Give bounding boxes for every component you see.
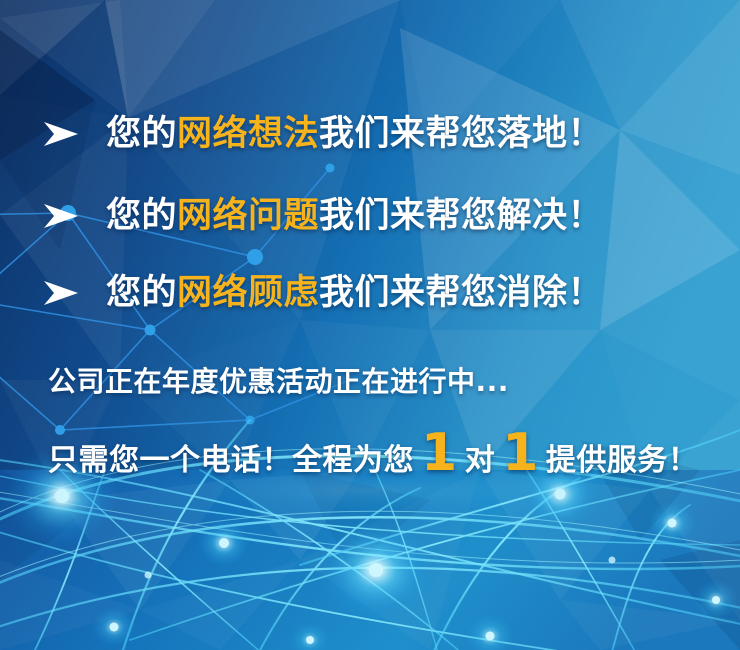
service-number-first: 1	[414, 428, 465, 478]
bullet-headline: 您的网络顾虑我们来帮您消除！	[106, 267, 603, 319]
bullet-headline: 您的网络想法我们来帮您落地！	[106, 108, 603, 160]
headline-prefix: 您的	[106, 196, 177, 236]
arrow-right-icon	[44, 203, 78, 229]
headline-suffix: 我们来帮您解决！	[319, 196, 603, 236]
service-number-second: 1	[495, 428, 546, 478]
bullet-row: 您的网络问题我们来帮您解决！	[44, 190, 603, 242]
bullet-row: 您的网络想法我们来帮您落地！	[44, 108, 603, 160]
arrow-right-icon	[44, 280, 78, 306]
bullet-headline: 您的网络问题我们来帮您解决！	[106, 190, 603, 242]
bullet-row: 您的网络顾虑我们来帮您消除！	[44, 267, 603, 319]
headline-highlight: 网络问题	[177, 196, 319, 236]
headline-highlight: 网络想法	[177, 114, 319, 154]
headline-highlight: 网络顾虑	[177, 273, 319, 313]
promo-text: 公司正在年度优惠活动正在进行中...	[48, 363, 509, 401]
service-text: 只需您一个电话！全程为您1对1提供服务！	[48, 428, 698, 486]
banner-content: 您的网络想法我们来帮您落地！ 您的网络问题我们来帮您解决！ 您的网络顾虑我们来帮…	[0, 0, 740, 650]
headline-prefix: 您的	[106, 114, 177, 154]
headline-suffix: 我们来帮您落地！	[319, 114, 603, 154]
arrow-right-icon	[44, 121, 78, 147]
headline-prefix: 您的	[106, 273, 177, 313]
service-text-part-a: 只需您一个电话！全程为您	[48, 436, 414, 486]
promo-banner: 您的网络想法我们来帮您落地！ 您的网络问题我们来帮您解决！ 您的网络顾虑我们来帮…	[0, 0, 740, 650]
service-text-middle: 对	[465, 436, 496, 486]
headline-suffix: 我们来帮您消除！	[319, 273, 603, 313]
service-text-part-b: 提供服务！	[546, 436, 699, 486]
